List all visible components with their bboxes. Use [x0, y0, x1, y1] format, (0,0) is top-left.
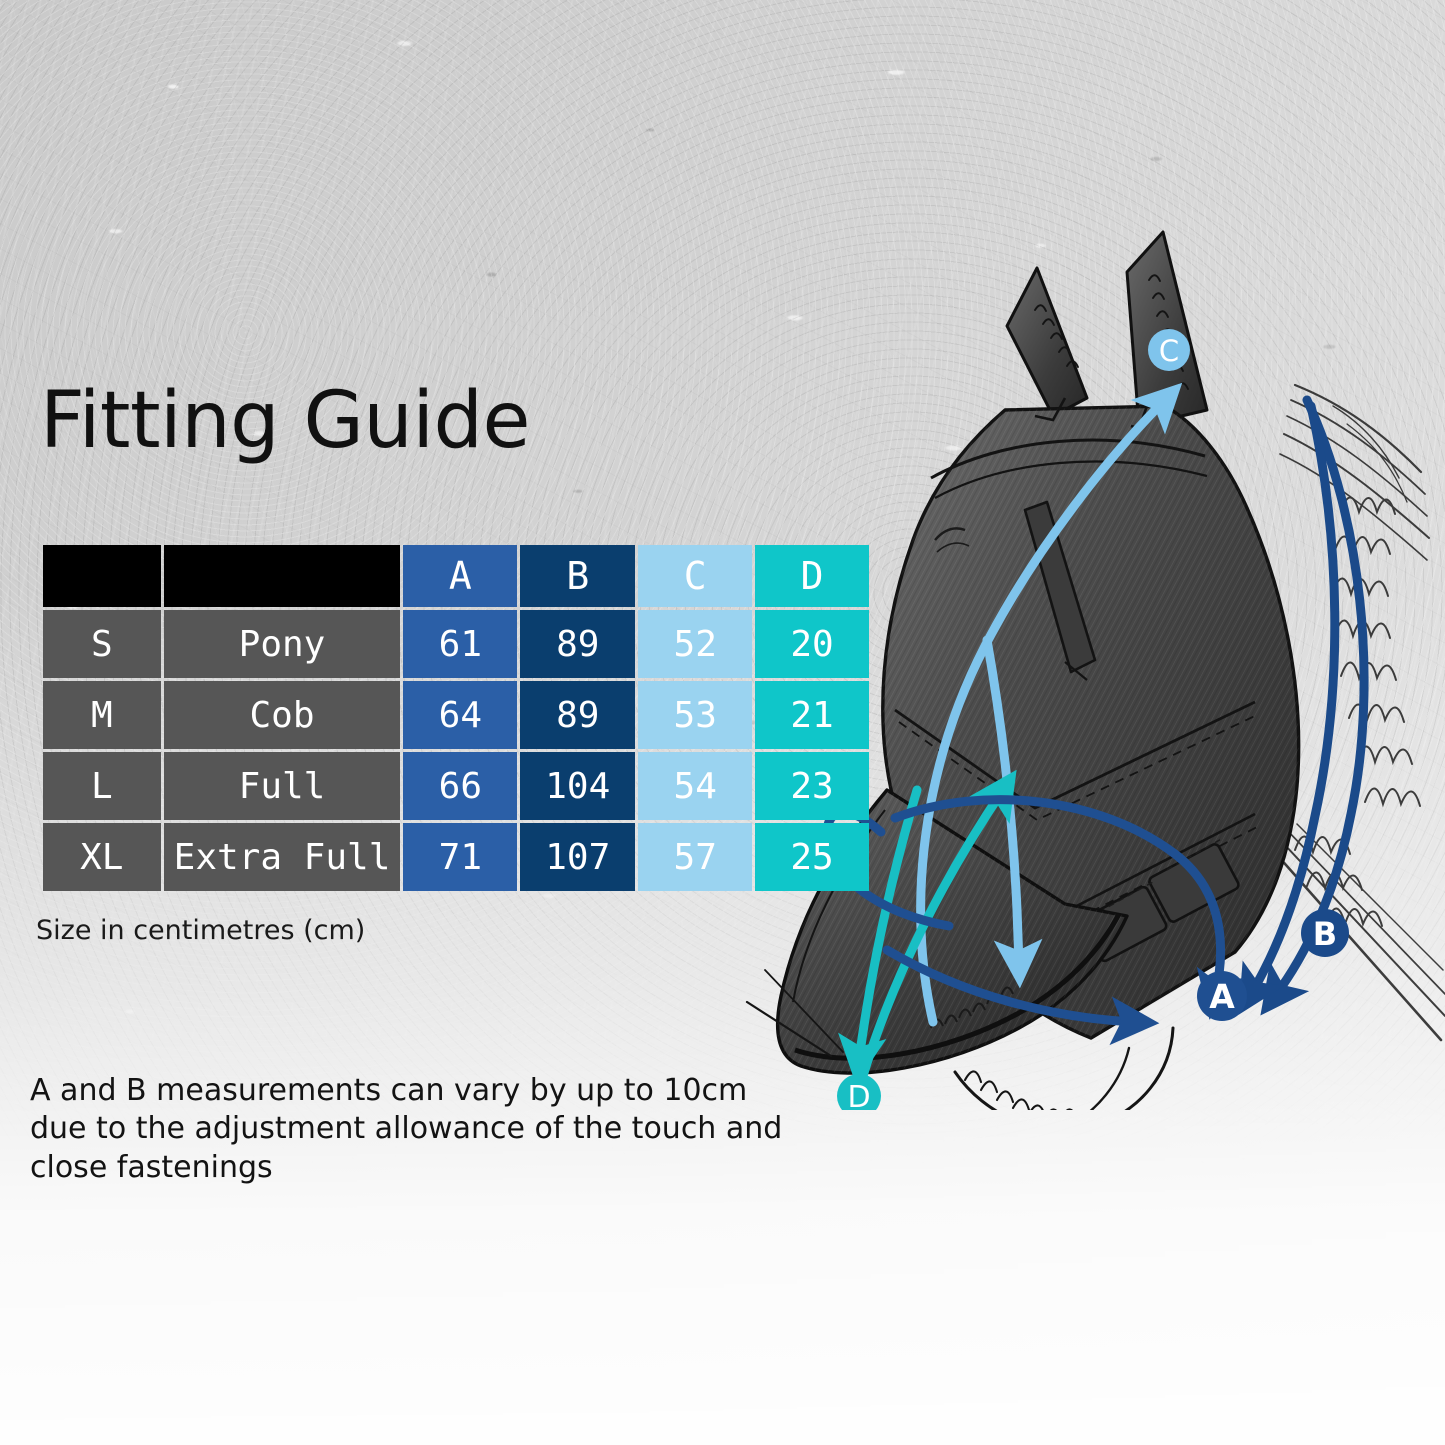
cell-size: M [43, 681, 161, 749]
svg-text:A: A [1209, 977, 1235, 1016]
header-cell-blank-size [43, 545, 161, 607]
cell-size: S [43, 610, 161, 678]
cell-b: 104 [520, 752, 635, 820]
svg-text:C: C [1159, 334, 1179, 368]
horse-ears [1007, 232, 1207, 426]
page-title: Fitting Guide [40, 382, 530, 460]
cell-c: 57 [638, 823, 752, 891]
cell-name: Extra Full [164, 823, 401, 891]
svg-text:D: D [847, 1080, 870, 1110]
table-row: L Full 66 104 54 23 [43, 752, 869, 820]
cell-d: 21 [755, 681, 869, 749]
size-unit-note: Size in centimetres (cm) [36, 915, 365, 946]
measurement-footnote: A and B measurements can vary by up to 1… [30, 1072, 810, 1187]
header-cell-c: C [638, 545, 752, 607]
svg-text:B: B [1313, 915, 1337, 953]
cell-a: 71 [403, 823, 517, 891]
cell-name: Full [164, 752, 401, 820]
cell-c: 52 [638, 610, 752, 678]
fitting-guide-graphic: C B A D Fitting Guide A B [0, 0, 1445, 1445]
marker-badge-c: C [1148, 329, 1190, 371]
cell-b: 107 [520, 823, 635, 891]
table-row: S Pony 61 89 52 20 [43, 610, 869, 678]
cell-d: 25 [755, 823, 869, 891]
cell-name: Pony [164, 610, 401, 678]
cell-d: 23 [755, 752, 869, 820]
header-cell-b: B [520, 545, 635, 607]
table-row: M Cob 64 89 53 21 [43, 681, 869, 749]
cell-c: 54 [638, 752, 752, 820]
cell-size: XL [43, 823, 161, 891]
size-chart-table: A B C D S Pony 61 89 52 20 M Cob 64 89 5… [40, 542, 872, 894]
header-cell-d: D [755, 545, 869, 607]
cell-b: 89 [520, 610, 635, 678]
marker-badge-d: D [837, 1074, 881, 1110]
cell-d: 20 [755, 610, 869, 678]
header-cell-blank-name [164, 545, 401, 607]
cell-c: 53 [638, 681, 752, 749]
cell-b: 89 [520, 681, 635, 749]
cell-size: L [43, 752, 161, 820]
table-header-row: A B C D [43, 545, 869, 607]
table-row: XL Extra Full 71 107 57 25 [43, 823, 869, 891]
marker-badge-b: B [1301, 909, 1349, 957]
cell-a: 64 [403, 681, 517, 749]
cell-a: 61 [403, 610, 517, 678]
marker-badge-a: A [1197, 971, 1247, 1021]
cell-name: Cob [164, 681, 401, 749]
header-cell-a: A [403, 545, 517, 607]
cell-a: 66 [403, 752, 517, 820]
